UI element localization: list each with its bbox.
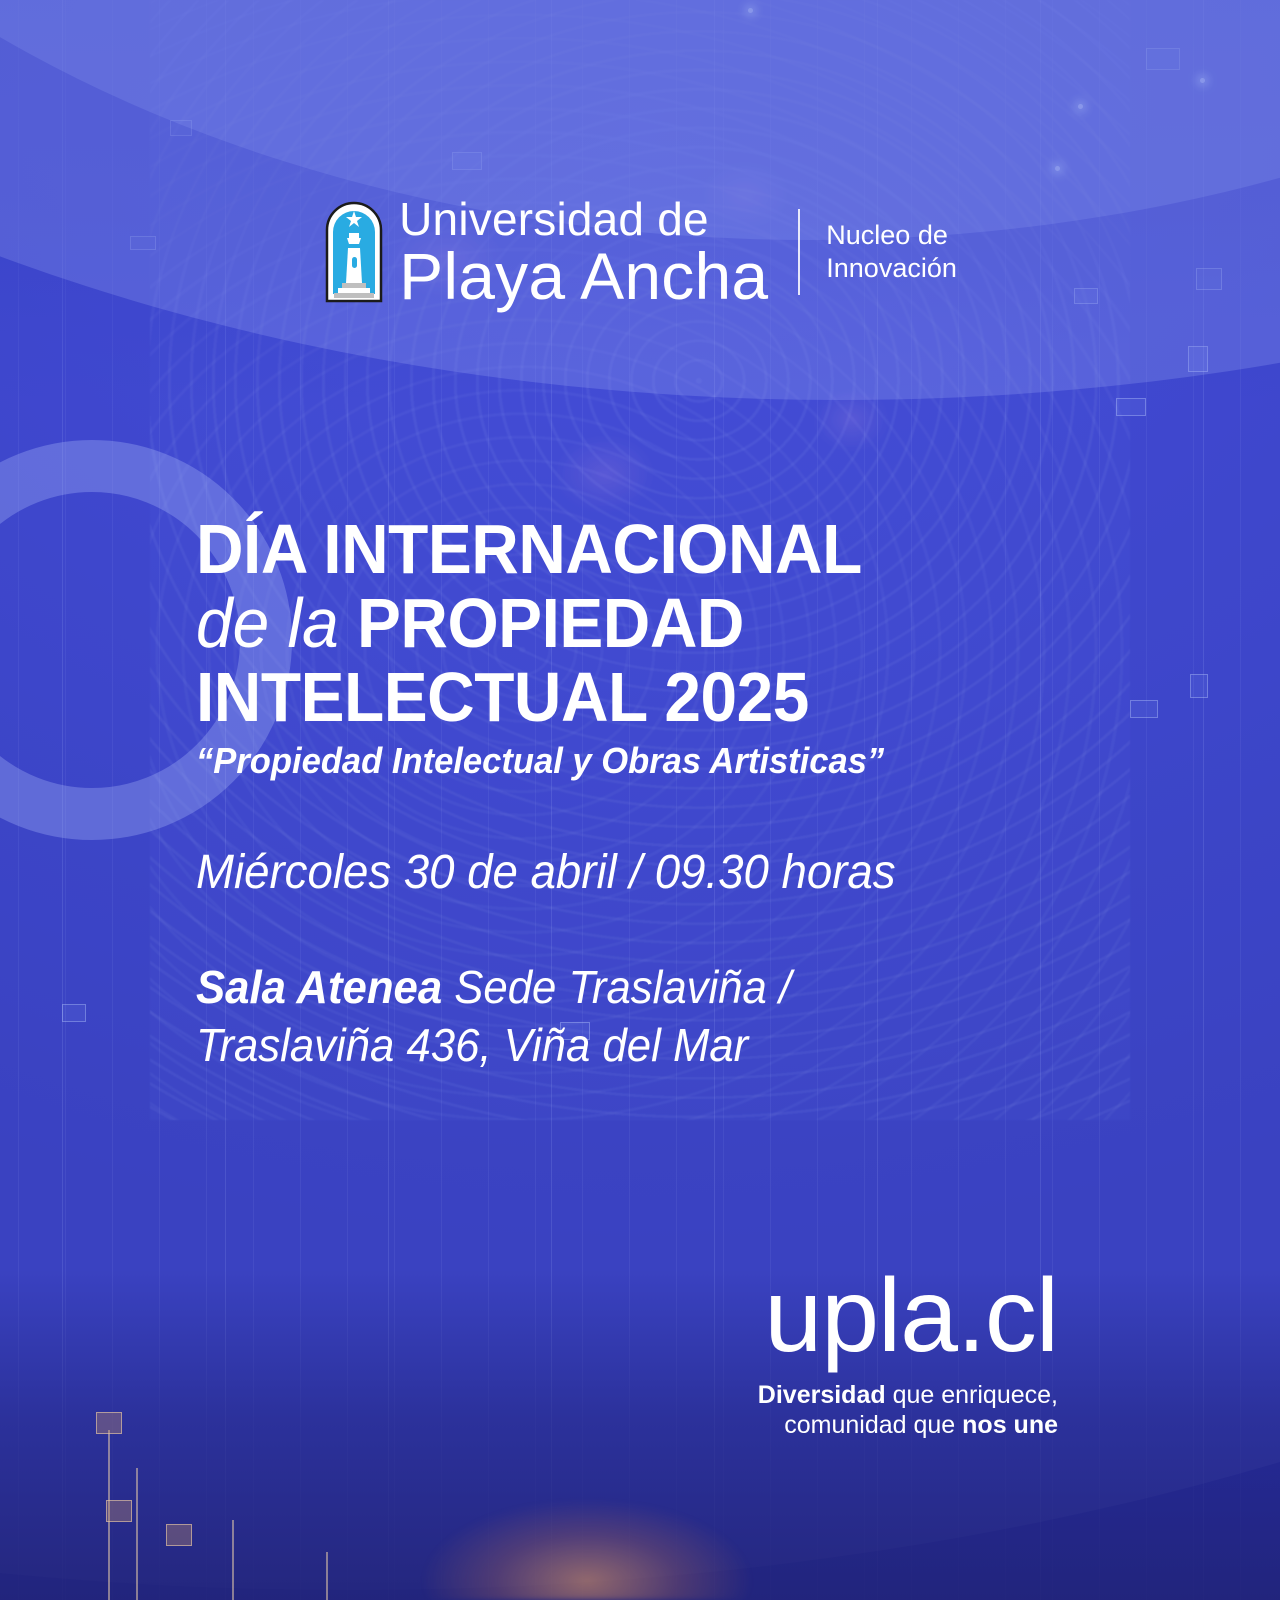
brand-name: Universidad de Playa Ancha [399, 196, 768, 308]
event-datetime: Miércoles 30 de abril / 09.30 horas [196, 846, 1051, 900]
title-de-la: de la [196, 584, 357, 662]
circuit-wire [232, 1520, 234, 1600]
logo-lockup: Universidad de Playa Ancha Nucleo de Inn… [0, 196, 1280, 308]
brand-line-playa-ancha: Playa Ancha [399, 244, 768, 308]
title-propiedad: PROPIEDAD [357, 584, 744, 662]
venue-name: Sala Atenea [196, 961, 442, 1013]
tagline-rest-1: que enriquece, [886, 1381, 1058, 1409]
main-content: DÍA INTERNACIONAL de la PROPIEDAD INTELE… [196, 512, 1096, 1074]
title-line-3: INTELECTUAL 2025 [196, 660, 1042, 734]
venue-address: Traslaviña 436, Viña del Mar [196, 1019, 748, 1071]
unit-line-innovacion: Innovación [826, 252, 957, 285]
tagline-line-2: comunidad que nos une [758, 1410, 1058, 1440]
vertical-divider [798, 209, 800, 295]
circuit-wire [326, 1552, 328, 1600]
tagline-line-1: Diversidad que enriquece, [758, 1380, 1058, 1410]
footer: upla.cl Diversidad que enriquece, comuni… [758, 1264, 1058, 1440]
title-line-1: DÍA INTERNACIONAL [196, 512, 1042, 586]
unit-name: Nucleo de Innovación [826, 219, 957, 285]
tagline-rest-2: comunidad que [784, 1411, 962, 1439]
tagline-bold-diversidad: Diversidad [758, 1381, 886, 1409]
circuit-wire-node [166, 1524, 192, 1546]
circuit-wire-node [96, 1412, 122, 1434]
title-line-2: de la PROPIEDAD [196, 586, 1042, 660]
institution-tagline: Diversidad que enriquece, comunidad que … [758, 1380, 1058, 1440]
unit-line-nucleo: Nucleo de [826, 219, 957, 252]
venue-site: Sede Traslaviña / [442, 961, 791, 1013]
poster-canvas: Universidad de Playa Ancha Nucleo de Inn… [0, 0, 1280, 1600]
lighthouse-crest-icon [323, 199, 385, 305]
website-url[interactable]: upla.cl [758, 1264, 1058, 1368]
circuit-wire-node [106, 1500, 132, 1522]
event-venue: Sala Atenea Sede Traslaviña / Traslaviña… [196, 958, 1051, 1074]
circuit-wire [136, 1468, 138, 1600]
tagline-bold-nos-une: nos une [962, 1411, 1058, 1439]
event-subtitle: “Propiedad Intelectual y Obras Artistica… [196, 740, 1060, 782]
brand-line-universidad: Universidad de [399, 196, 768, 242]
